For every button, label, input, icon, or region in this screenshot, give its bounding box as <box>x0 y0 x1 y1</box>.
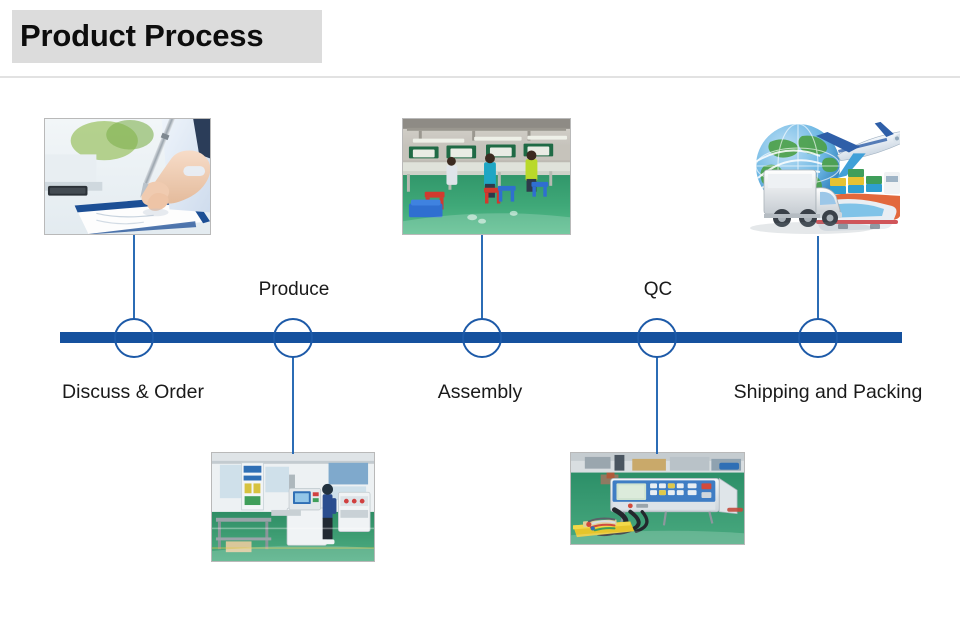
product-process-slide: Product Process <box>0 0 960 617</box>
timeline-node-assembly[interactable] <box>462 318 502 358</box>
qc-test-equipment-photo <box>570 452 745 545</box>
connector-node-4 <box>656 356 658 454</box>
timeline-node-qc[interactable] <box>637 318 677 358</box>
connector-node-3 <box>481 235 483 320</box>
qc-test-equipment-illustration <box>571 453 744 544</box>
connector-node-2 <box>292 356 294 454</box>
timeline-node-produce[interactable] <box>273 318 313 358</box>
signing-contract-photo <box>44 118 211 235</box>
factory-assembly-illustration <box>403 119 570 234</box>
timeline-node-discuss-order[interactable] <box>114 318 154 358</box>
global-logistics-illustration <box>740 116 900 236</box>
stage-label-shipping: Shipping and Packing <box>734 380 923 404</box>
timeline-node-shipping[interactable] <box>798 318 838 358</box>
stage-label-discuss-order: Discuss & Order <box>62 380 204 404</box>
stage-label-produce: Produce <box>259 278 330 302</box>
stage-label-assembly: Assembly <box>438 380 523 404</box>
connector-node-1 <box>133 235 135 320</box>
signing-contract-illustration <box>45 119 210 234</box>
factory-assembly-line-photo <box>402 118 571 235</box>
production-workshop-photo <box>211 452 375 562</box>
production-workshop-illustration <box>212 453 374 561</box>
page-title: Product Process <box>20 14 263 58</box>
header-divider <box>0 76 960 78</box>
stage-label-qc: QC <box>644 278 673 302</box>
global-logistics-photo <box>740 116 900 236</box>
connector-node-5 <box>817 236 819 320</box>
